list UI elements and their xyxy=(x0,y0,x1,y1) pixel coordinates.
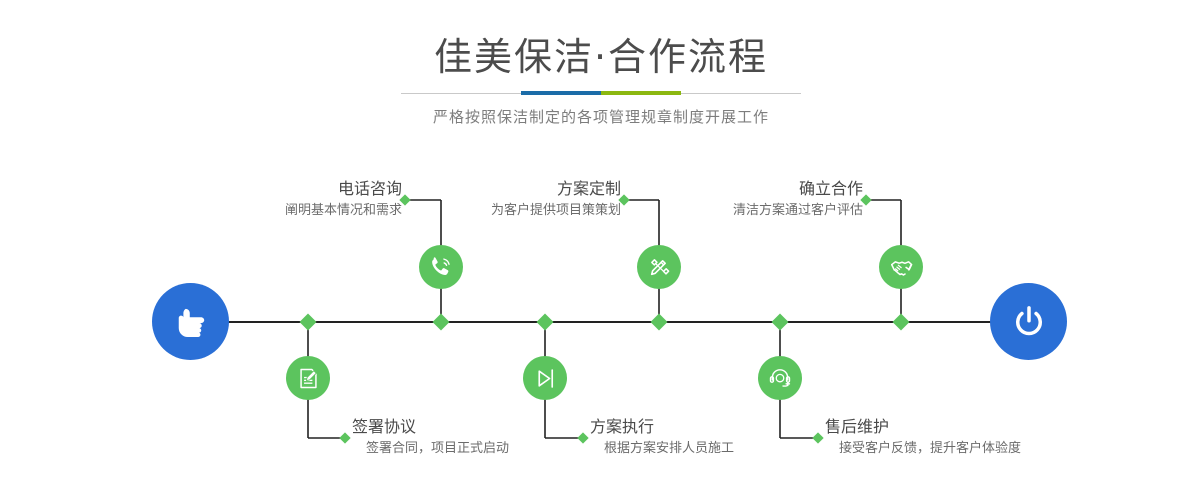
step-lead-4: 方案执行 xyxy=(590,416,850,438)
end-node[interactable] xyxy=(990,283,1067,360)
start-node[interactable] xyxy=(152,283,229,360)
step-lead-3: 方案定制 xyxy=(400,178,621,200)
step-node-4[interactable] xyxy=(523,356,567,400)
axis-diamond-3 xyxy=(651,314,668,331)
step-node-3[interactable] xyxy=(637,245,681,289)
axis-diamond-4 xyxy=(537,314,554,331)
page-subtitle: 严格按照保洁制定的各项管理规章制度开展工作 xyxy=(0,106,1202,128)
pencil-ruler-icon xyxy=(646,254,672,280)
step-label-5: 确立合作 清洁方案通过客户评估 xyxy=(641,178,863,221)
axis-diamond-5 xyxy=(893,314,910,331)
page-header: 佳美保洁·合作流程 严格按照保洁制定的各项管理规章制度开展工作 xyxy=(0,0,1202,145)
divider-green-segment xyxy=(601,91,681,95)
step-desc-6: 接受客户反馈，提升客户体验度 xyxy=(825,439,1105,459)
step-node-5[interactable] xyxy=(879,245,923,289)
handshake-icon xyxy=(888,254,915,281)
power-icon xyxy=(1009,302,1049,342)
step-desc-2: 签署合同，项目正式启动 xyxy=(352,439,612,459)
page-title: 佳美保洁·合作流程 xyxy=(0,33,1202,81)
step-node-1[interactable] xyxy=(419,245,463,289)
document-edit-icon xyxy=(296,366,321,391)
step-label-2: 签署协议 签署合同，项目正式启动 xyxy=(352,416,612,459)
step-lead-2: 签署协议 xyxy=(352,416,612,438)
customer-support-icon xyxy=(767,365,793,391)
step-node-2[interactable] xyxy=(286,356,330,400)
step-lead-6: 售后维护 xyxy=(825,416,1105,438)
step-label-1: 电话咨询 阐明基本情况和需求 xyxy=(180,178,402,221)
step-label-6: 售后维护 接受客户反馈，提升客户体验度 xyxy=(825,416,1105,459)
label-diamond-markers xyxy=(339,194,871,443)
process-flow-diagram: 电话咨询 阐明基本情况和需求 方案定制 为客户提供项目策策划 确立合作 清洁方案… xyxy=(0,145,1202,502)
step-label-4: 方案执行 根据方案安排人员施工 xyxy=(590,416,850,459)
step-desc-4: 根据方案安排人员施工 xyxy=(590,439,850,459)
step-desc-5: 清洁方案通过客户评估 xyxy=(641,201,863,221)
play-skip-icon xyxy=(533,366,558,391)
step-lead-1: 电话咨询 xyxy=(180,178,402,200)
axis-diamond-6 xyxy=(772,314,789,331)
axis-diamond-2 xyxy=(300,314,317,331)
title-divider xyxy=(401,91,801,95)
divider-blue-segment xyxy=(521,91,601,95)
step-desc-3: 为客户提供项目策策划 xyxy=(400,201,621,221)
label-diamond-2 xyxy=(339,432,350,443)
step-node-6[interactable] xyxy=(758,356,802,400)
step-lead-5: 确立合作 xyxy=(641,178,863,200)
step-desc-1: 阐明基本情况和需求 xyxy=(180,201,402,221)
axis-diamond-1 xyxy=(433,314,450,331)
phone-call-icon xyxy=(428,254,454,280)
pointing-hand-icon xyxy=(170,301,212,343)
step-label-3: 方案定制 为客户提供项目策策划 xyxy=(400,178,621,221)
